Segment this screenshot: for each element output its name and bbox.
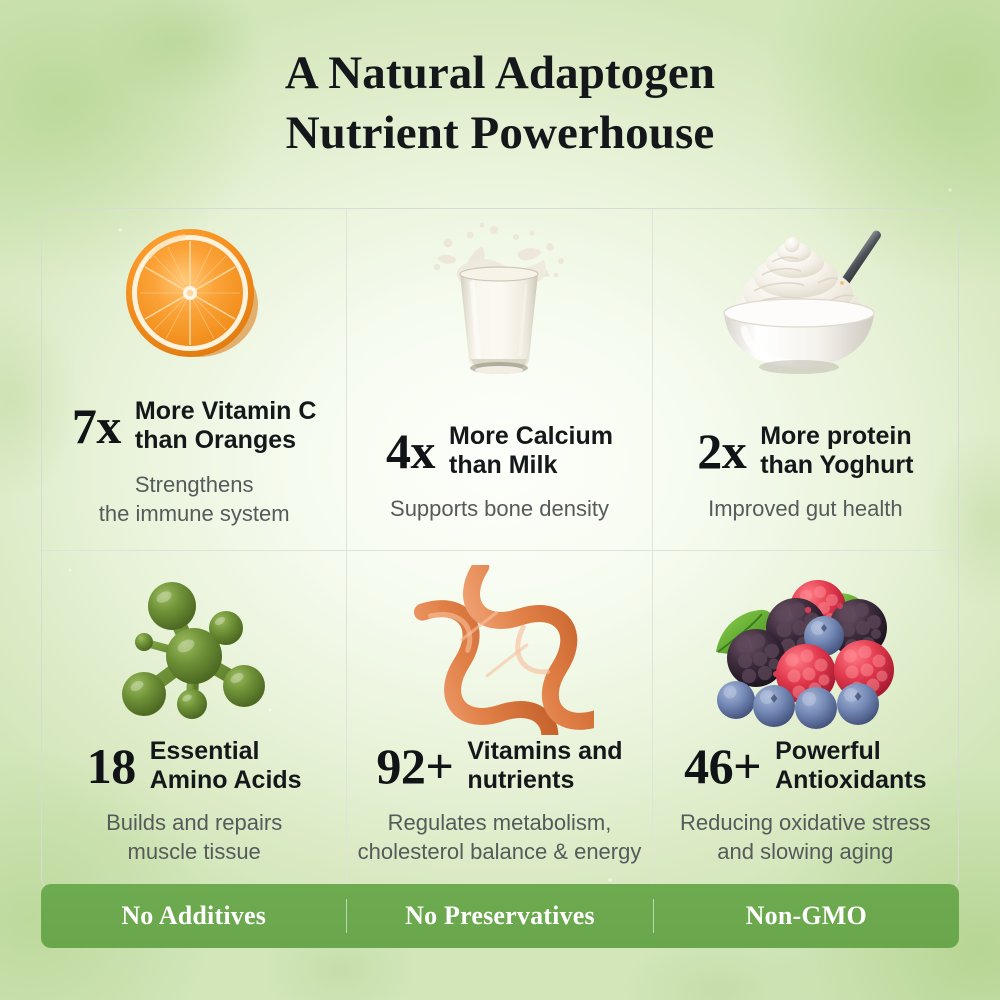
benefit-description-line-2: the immune system: [42, 500, 346, 529]
benefit-description: Strengthens the immune system: [42, 471, 346, 528]
benefit-description: Improved gut health: [653, 495, 958, 524]
benefit-description: Regulates metabolism, cholesterol balanc…: [347, 809, 651, 866]
stat-number: 4x: [386, 426, 435, 476]
milk-glass-splash-icon: [347, 209, 651, 385]
stat-number: 46+: [684, 741, 761, 791]
stat-number: 18: [87, 741, 136, 791]
page-title-line-1: A Natural Adaptogen: [0, 44, 1000, 104]
claim-no-preservatives: No Preservatives: [347, 901, 652, 931]
stat-label-line-2: than Milk: [449, 451, 613, 480]
stat-line: 92+ Vitamins and nutrients: [347, 737, 651, 795]
stat-label-line-2: than Oranges: [135, 426, 317, 455]
stat-label: More Vitamin C than Oranges: [135, 397, 317, 455]
stat-label-line-1: Powerful: [775, 737, 926, 766]
benefit-description-line-1: Reducing oxidative stress: [653, 809, 958, 838]
infographic-root: A Natural Adaptogen Nutrient Powerhouse: [0, 0, 1000, 1000]
stat-line: 18 Essential Amino Acids: [42, 737, 346, 795]
benefit-description: Reducing oxidative stress and slowing ag…: [653, 809, 958, 866]
stat-line: 46+ Powerful Antioxidants: [653, 737, 958, 795]
stat-label-line-1: More Calcium: [449, 422, 613, 451]
stat-label: Powerful Antioxidants: [775, 737, 926, 795]
benefit-description-line-1: Improved gut health: [653, 495, 958, 524]
stat-label-line-1: More protein: [760, 422, 913, 451]
stat-line: 4x More Calcium than Milk: [347, 422, 651, 480]
stat-number: 2x: [697, 426, 746, 476]
claims-footer-bar: No Additives No Preservatives Non-GMO: [41, 884, 959, 948]
benefit-cell-antioxidants: 46+ Powerful Antioxidants Reducing oxida…: [653, 551, 958, 893]
stat-label-line-2: Amino Acids: [150, 766, 302, 795]
dna-helix-icon: [347, 555, 651, 745]
benefit-description: Supports bone density: [347, 495, 651, 524]
benefit-description: Builds and repairs muscle tissue: [42, 809, 346, 866]
claim-non-gmo: Non-GMO: [654, 901, 959, 931]
stat-label: More protein than Yoghurt: [760, 422, 913, 480]
benefit-description-line-2: cholesterol balance & energy: [347, 838, 651, 867]
claim-no-additives: No Additives: [41, 901, 346, 931]
benefit-cell-protein: 2x More protein than Yoghurt Improved gu…: [653, 209, 958, 551]
stat-line: 7x More Vitamin C than Oranges: [42, 397, 346, 455]
stat-label-line-1: Vitamins and: [467, 737, 622, 766]
benefit-description-line-1: Regulates metabolism,: [347, 809, 651, 838]
orange-slice-icon: [42, 209, 346, 385]
stat-label-line-1: Essential: [150, 737, 302, 766]
benefit-cell-vitamin-c: 7x More Vitamin C than Oranges Strengthe…: [42, 209, 347, 551]
stat-label: Vitamins and nutrients: [467, 737, 622, 795]
benefit-description-line-2: muscle tissue: [42, 838, 346, 867]
molecule-icon: [42, 555, 346, 745]
stat-label-line-2: nutrients: [467, 766, 622, 795]
page-title-line-2: Nutrient Powerhouse: [0, 104, 1000, 164]
benefit-description-line-1: Builds and repairs: [42, 809, 346, 838]
benefits-card: 7x More Vitamin C than Oranges Strengthe…: [41, 208, 959, 894]
stat-label-line-2: than Yoghurt: [760, 451, 913, 480]
mixed-berries-icon: [653, 555, 958, 745]
benefit-description-line-1: Supports bone density: [347, 495, 651, 524]
stat-number: 92+: [376, 741, 453, 791]
benefit-description-line-2: and slowing aging: [653, 838, 958, 867]
benefit-cell-calcium: 4x More Calcium than Milk Supports bone …: [347, 209, 652, 551]
benefits-grid: 7x More Vitamin C than Oranges Strengthe…: [42, 209, 958, 893]
stat-label-line-2: Antioxidants: [775, 766, 926, 795]
page-title: A Natural Adaptogen Nutrient Powerhouse: [0, 44, 1000, 163]
stat-label: More Calcium than Milk: [449, 422, 613, 480]
stat-number: 7x: [72, 401, 121, 451]
stat-line: 2x More protein than Yoghurt: [653, 422, 958, 480]
benefit-cell-amino-acids: 18 Essential Amino Acids Builds and repa…: [42, 551, 347, 893]
yoghurt-bowl-icon: [653, 209, 958, 385]
stat-label-line-1: More Vitamin C: [135, 397, 317, 426]
benefit-cell-vitamins: 92+ Vitamins and nutrients Regulates met…: [347, 551, 652, 893]
benefit-description-line-1: Strengthens: [42, 471, 346, 500]
stat-label: Essential Amino Acids: [150, 737, 302, 795]
